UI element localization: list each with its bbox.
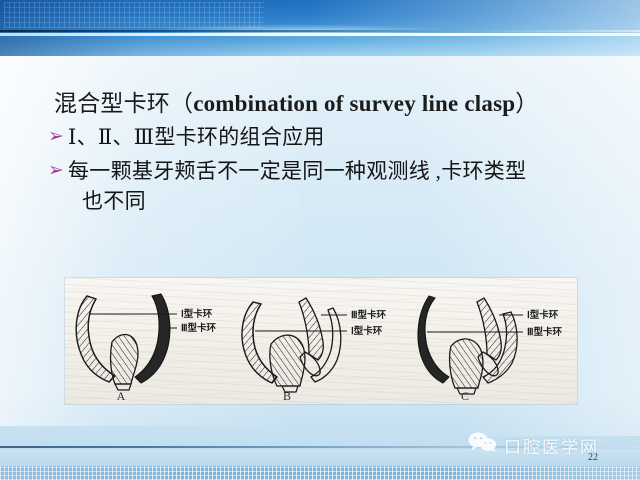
list-item-label: Ⅰ、Ⅱ、Ⅲ型卡环的组合应用: [68, 122, 325, 152]
title-paren-open: （: [170, 91, 193, 116]
watermark-label: 口腔医学网: [504, 433, 599, 458]
bullet-list: ➢ Ⅰ、Ⅱ、Ⅲ型卡环的组合应用 ➢ 每一颗基牙颊舌不一定是同一种观测线 ,卡环类…: [48, 122, 618, 220]
combination-clasp-figure: Ⅰ型卡环 Ⅲ型卡环 A: [65, 278, 577, 404]
list-item-label: 每一颗基牙颊舌不一定是同一种观测线 ,卡环类型 也不同: [68, 156, 526, 216]
title-english: combination of survey line clasp: [193, 91, 515, 116]
panel-a-label-1: Ⅰ型卡环: [181, 308, 213, 320]
panel-a: Ⅰ型卡环 Ⅲ型卡环 A: [76, 294, 216, 403]
arrow-bullet-icon: ➢: [48, 156, 68, 186]
wechat-icon: [468, 432, 498, 458]
title-paren-close: ）: [515, 91, 538, 116]
panel-a-label-2: Ⅲ型卡环: [181, 322, 217, 334]
panel-c-label-2: Ⅲ型卡环: [527, 326, 563, 338]
bottom-mesh-overlay: [0, 466, 640, 480]
slide: 混合型卡环（combination of survey line clasp） …: [0, 0, 640, 480]
panel-b-label-1: Ⅲ型卡环: [351, 309, 387, 321]
panel-b-caption: B: [283, 389, 291, 403]
list-item-line-1: 每一颗基牙颊舌不一定是同一种观测线 ,卡环类型: [68, 159, 526, 183]
list-item-line-2: 也不同: [68, 186, 526, 216]
panel-c-caption: C: [461, 389, 469, 403]
panel-b-label-2: Ⅰ型卡环: [351, 325, 383, 337]
slide-top-banner: [0, 0, 640, 56]
title-chinese: 混合型卡环: [54, 91, 170, 116]
panel-c: Ⅰ型卡环 Ⅲ型卡环 C: [418, 296, 563, 403]
figure-drawing: Ⅰ型卡环 Ⅲ型卡环 A: [65, 278, 577, 404]
watermark: 口腔医学网: [468, 432, 599, 458]
banner-light-rule: [0, 33, 640, 36]
list-item: ➢ 每一颗基牙颊舌不一定是同一种观测线 ,卡环类型 也不同: [48, 156, 618, 216]
banner-dark-rule: [0, 30, 640, 32]
panel-c-label-1: Ⅰ型卡环: [527, 309, 559, 321]
list-item: ➢ Ⅰ、Ⅱ、Ⅲ型卡环的组合应用: [48, 122, 618, 152]
page-title: 混合型卡环（combination of survey line clasp）: [54, 84, 538, 118]
arrow-bullet-icon: ➢: [48, 122, 68, 152]
page-number: 22: [588, 452, 598, 463]
panel-a-caption: A: [117, 389, 126, 403]
panel-b: Ⅲ型卡环 Ⅰ型卡环 B: [242, 298, 387, 403]
